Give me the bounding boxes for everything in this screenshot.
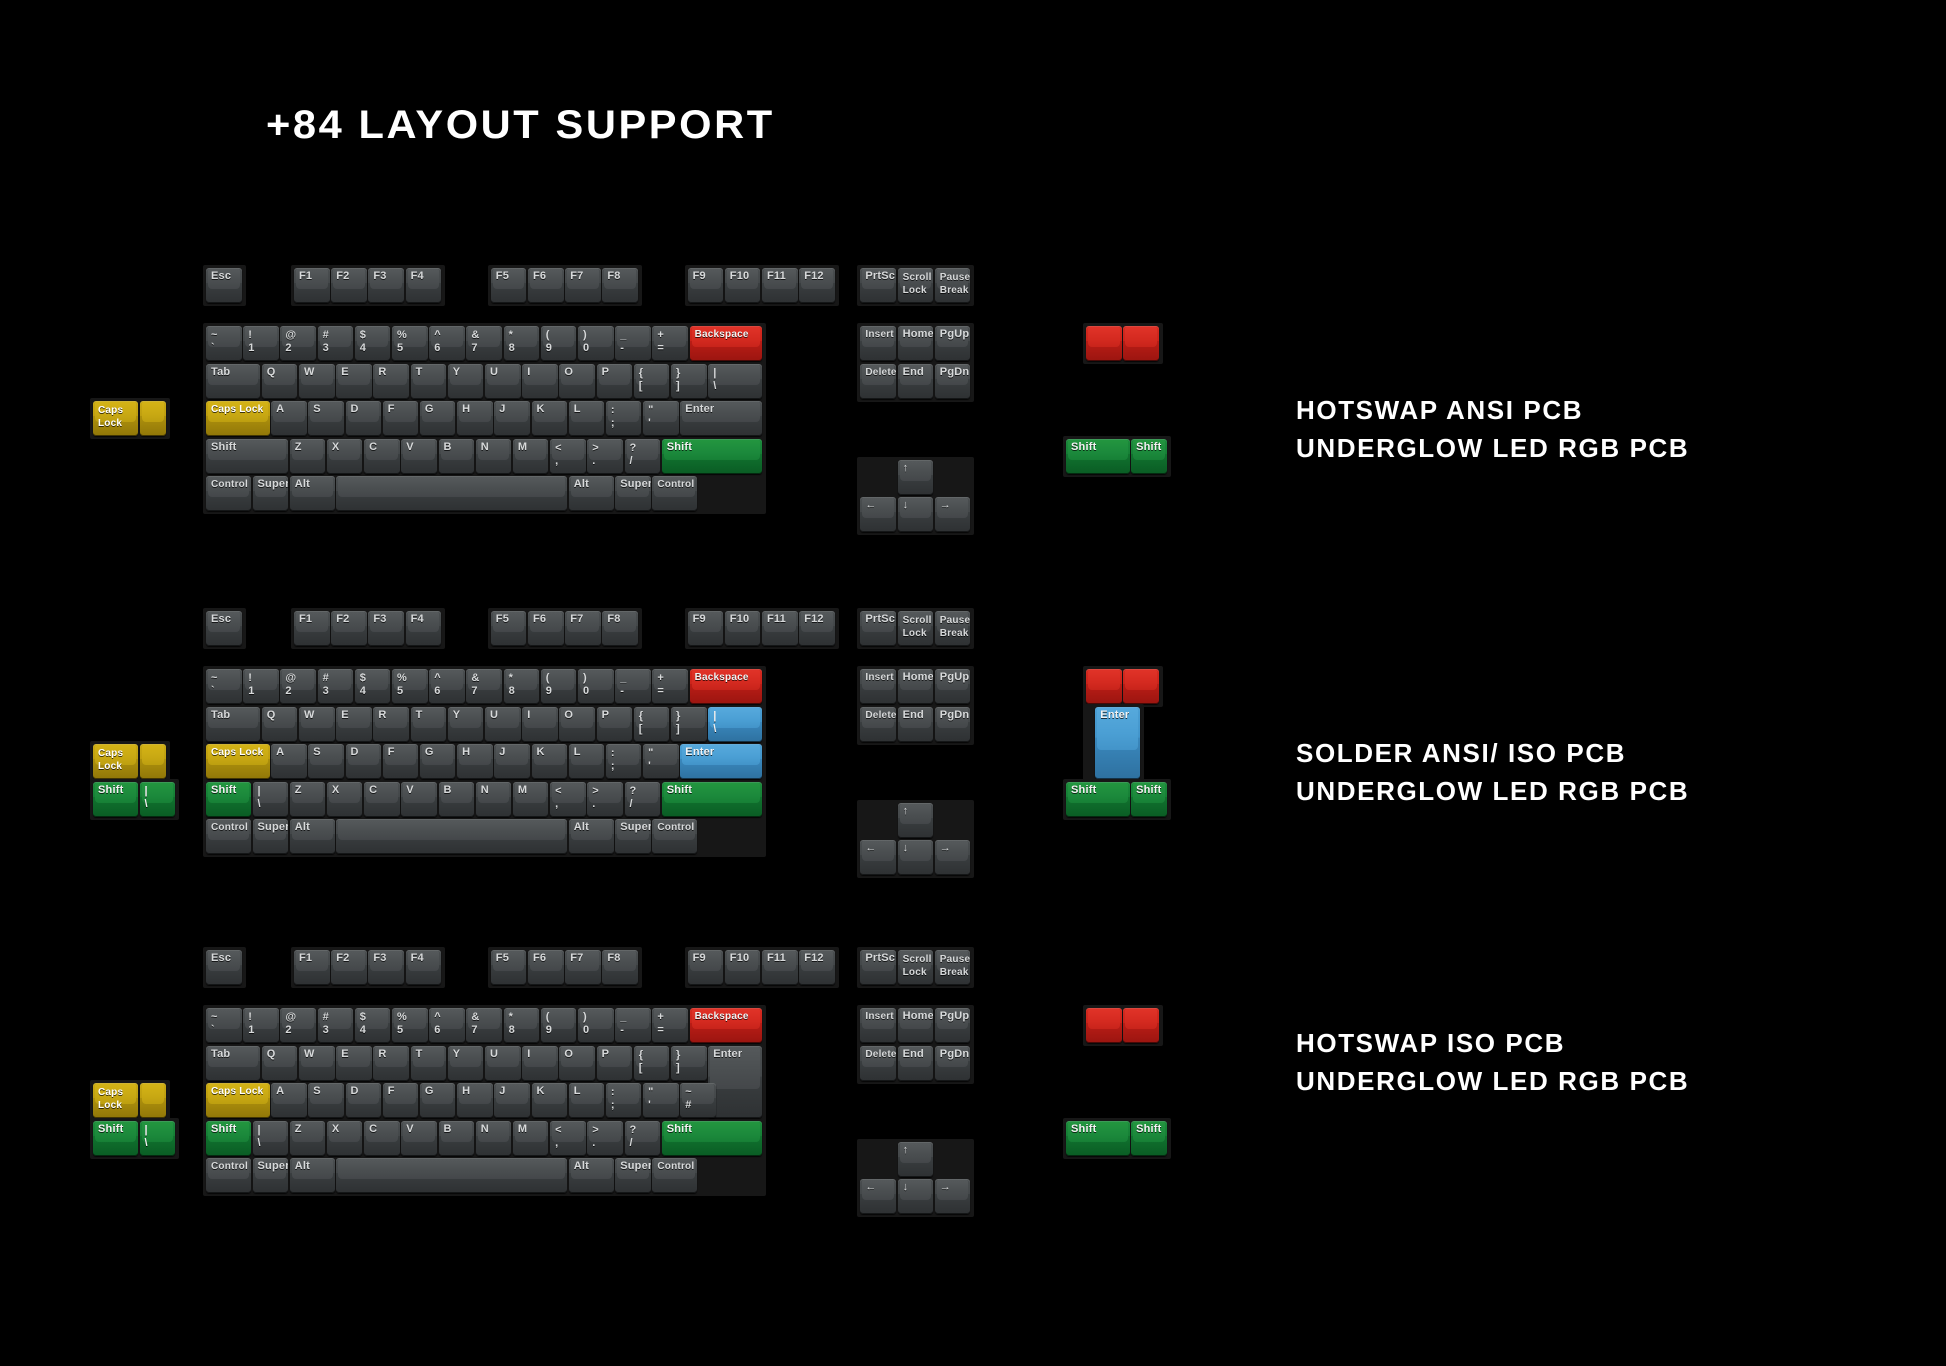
key-pgup[interactable]: PgUp bbox=[935, 326, 971, 361]
key-4[interactable]: $ 4 bbox=[355, 326, 391, 361]
cluster-f9-f12: F9F10F11F12 bbox=[685, 608, 839, 649]
key-l[interactable]: L bbox=[569, 401, 605, 436]
key-f4[interactable]: F4 bbox=[406, 268, 442, 303]
key-shift-right[interactable]: Shift bbox=[662, 439, 763, 474]
key-space[interactable] bbox=[336, 819, 567, 854]
key-6[interactable]: ^ 6 bbox=[429, 1008, 465, 1043]
key-super-right[interactable]: Super bbox=[615, 476, 651, 511]
key-super-left[interactable]: Super bbox=[253, 476, 289, 511]
key-4[interactable]: $ 4 bbox=[355, 1008, 391, 1043]
key-f5[interactable]: F5 bbox=[491, 268, 527, 303]
key-6[interactable]: ^ 6 bbox=[429, 326, 465, 361]
key-legend: PrtSc bbox=[865, 271, 895, 283]
key-j[interactable]: J bbox=[494, 744, 530, 779]
key-legend: Control bbox=[657, 1161, 694, 1172]
key-l[interactable]: L bbox=[569, 744, 605, 779]
key-alt-caps-blank[interactable] bbox=[140, 744, 166, 779]
key-arrow-down[interactable]: ↓ bbox=[898, 497, 934, 532]
key-d[interactable]: D bbox=[346, 1083, 382, 1118]
key-arrow-up[interactable]: ↑ bbox=[898, 803, 934, 838]
key-scroll-lock[interactable]: Scroll Lock bbox=[898, 611, 934, 646]
key-s[interactable]: S bbox=[308, 744, 344, 779]
key-p[interactable]: P bbox=[597, 1046, 633, 1081]
key-backspace[interactable]: Backspace bbox=[690, 669, 763, 704]
key-r[interactable]: R bbox=[373, 707, 409, 742]
key-f8[interactable]: F8 bbox=[602, 268, 638, 303]
key-arrow-right[interactable]: → bbox=[935, 840, 971, 875]
key-t[interactable]: T bbox=[411, 1046, 447, 1081]
key-end[interactable]: End bbox=[898, 364, 934, 399]
key-split-backspace-b[interactable] bbox=[1123, 669, 1159, 704]
key-f[interactable]: F bbox=[383, 401, 419, 436]
key-pause-break[interactable]: Pause Break bbox=[935, 611, 971, 646]
key-end[interactable]: End bbox=[898, 707, 934, 742]
key-comma[interactable]: < , bbox=[550, 782, 586, 817]
key-f8[interactable]: F8 bbox=[602, 950, 638, 985]
key-0[interactable]: ) 0 bbox=[578, 1008, 614, 1043]
key-w[interactable]: W bbox=[299, 1046, 335, 1081]
key-pgdn[interactable]: PgDn bbox=[935, 707, 971, 742]
key-k[interactable]: K bbox=[532, 1083, 568, 1118]
key-u[interactable]: U bbox=[485, 364, 521, 399]
key-alt-iso-backslash[interactable]: | \ bbox=[140, 782, 176, 817]
key-alt-caps-lock[interactable]: Caps Lock bbox=[93, 744, 138, 779]
key-shift-left[interactable]: Shift bbox=[206, 782, 251, 817]
key-alt-caps-lock[interactable]: Caps Lock bbox=[93, 401, 138, 436]
key-slash[interactable]: ? / bbox=[625, 1121, 661, 1156]
key-slash[interactable]: ? / bbox=[625, 439, 661, 474]
key-super-right[interactable]: Super bbox=[615, 819, 651, 854]
key-period[interactable]: > . bbox=[587, 782, 623, 817]
key-blank[interactable]: ~ ` bbox=[206, 326, 242, 361]
key-prtsc[interactable]: PrtSc bbox=[860, 611, 896, 646]
key-o[interactable]: O bbox=[559, 1046, 595, 1081]
key-pgup[interactable]: PgUp bbox=[935, 1008, 971, 1043]
key-n[interactable]: N bbox=[476, 439, 512, 474]
key-f11[interactable]: F11 bbox=[762, 950, 798, 985]
key-e[interactable]: E bbox=[336, 1046, 372, 1081]
key-esc[interactable]: Esc bbox=[206, 950, 242, 985]
key-1[interactable]: ! 1 bbox=[243, 326, 279, 361]
key-n[interactable]: N bbox=[476, 1121, 512, 1156]
key-x[interactable]: X bbox=[327, 439, 363, 474]
key-3[interactable]: # 3 bbox=[318, 326, 354, 361]
key-t[interactable]: T bbox=[411, 707, 447, 742]
key-period[interactable]: > . bbox=[587, 1121, 623, 1156]
key-bracket-left[interactable]: { [ bbox=[634, 1046, 670, 1081]
key-tab[interactable]: Tab bbox=[206, 364, 260, 399]
key-f9[interactable]: F9 bbox=[688, 268, 724, 303]
key-e[interactable]: E bbox=[336, 707, 372, 742]
key-home[interactable]: Home bbox=[898, 669, 934, 704]
key-legend: W bbox=[304, 710, 315, 722]
key-9[interactable]: ( 9 bbox=[541, 669, 577, 704]
key-scroll-lock[interactable]: Scroll Lock bbox=[898, 268, 934, 303]
key-semicolon[interactable]: : ; bbox=[606, 1083, 642, 1118]
key-j[interactable]: J bbox=[494, 1083, 530, 1118]
key-blank[interactable]: + = bbox=[652, 669, 688, 704]
key-f3[interactable]: F3 bbox=[368, 268, 404, 303]
key-f10[interactable]: F10 bbox=[725, 950, 761, 985]
key-h[interactable]: H bbox=[457, 744, 493, 779]
key-blank[interactable]: _ - bbox=[615, 669, 651, 704]
key-l[interactable]: L bbox=[569, 1083, 605, 1118]
key-s[interactable]: S bbox=[308, 1083, 344, 1118]
key-delete[interactable]: Delete bbox=[860, 1046, 896, 1081]
key-esc[interactable]: Esc bbox=[206, 611, 242, 646]
key-0[interactable]: ) 0 bbox=[578, 669, 614, 704]
key-delete[interactable]: Delete bbox=[860, 364, 896, 399]
key-m[interactable]: M bbox=[513, 439, 549, 474]
key-f2[interactable]: F2 bbox=[331, 950, 367, 985]
key-k[interactable]: K bbox=[532, 401, 568, 436]
key-esc[interactable]: Esc bbox=[206, 268, 242, 303]
key-control-left[interactable]: Control bbox=[206, 1158, 251, 1193]
key-f10[interactable]: F10 bbox=[725, 268, 761, 303]
key-v[interactable]: V bbox=[401, 782, 437, 817]
key-c[interactable]: C bbox=[364, 782, 400, 817]
key-end[interactable]: End bbox=[898, 1046, 934, 1081]
key-f3[interactable]: F3 bbox=[368, 950, 404, 985]
key-p[interactable]: P bbox=[597, 707, 633, 742]
key-alt-shift-right-b[interactable]: Shift bbox=[1131, 1121, 1167, 1156]
key-x[interactable]: X bbox=[327, 1121, 363, 1156]
key-b[interactable]: B bbox=[439, 782, 475, 817]
key-f7[interactable]: F7 bbox=[565, 268, 601, 303]
key-alt-shift-right-a[interactable]: Shift bbox=[1066, 1121, 1130, 1156]
key-home[interactable]: Home bbox=[898, 1008, 934, 1043]
key-alt-left[interactable]: Alt bbox=[290, 819, 335, 854]
key-iso-backslash[interactable]: | \ bbox=[253, 782, 289, 817]
key-f11[interactable]: F11 bbox=[762, 268, 798, 303]
key-f5[interactable]: F5 bbox=[491, 950, 527, 985]
key-legend: Alt bbox=[574, 822, 589, 834]
key-b[interactable]: B bbox=[439, 439, 475, 474]
key-semicolon[interactable]: : ; bbox=[606, 401, 642, 436]
key-arrow-up[interactable]: ↑ bbox=[898, 460, 934, 495]
key-arrow-right[interactable]: → bbox=[935, 497, 971, 532]
key-legend: G bbox=[425, 1086, 434, 1098]
key-comma[interactable]: < , bbox=[550, 1121, 586, 1156]
key-hash[interactable]: ~ # bbox=[680, 1083, 716, 1118]
key-c[interactable]: C bbox=[364, 1121, 400, 1156]
key-g[interactable]: G bbox=[420, 744, 456, 779]
key-w[interactable]: W bbox=[299, 364, 335, 399]
key-2[interactable]: @ 2 bbox=[280, 326, 316, 361]
key-k[interactable]: K bbox=[532, 744, 568, 779]
key-control-right[interactable]: Control bbox=[652, 476, 697, 511]
key-alt-left[interactable]: Alt bbox=[290, 1158, 335, 1193]
key-legend: F10 bbox=[730, 953, 750, 965]
key-a[interactable]: A bbox=[271, 1083, 307, 1118]
key-9[interactable]: ( 9 bbox=[541, 326, 577, 361]
key-legend: * 8 bbox=[509, 329, 515, 355]
key-c[interactable]: C bbox=[364, 439, 400, 474]
key-shift-left[interactable]: Shift bbox=[206, 1121, 251, 1156]
key-legend: V bbox=[406, 442, 414, 454]
key-6[interactable]: ^ 6 bbox=[429, 669, 465, 704]
key-blank[interactable]: _ - bbox=[615, 326, 651, 361]
key-v[interactable]: V bbox=[401, 1121, 437, 1156]
key-enter-iso[interactable]: Enter bbox=[708, 1046, 762, 1119]
key-alt-shift-left[interactable]: Shift bbox=[93, 782, 138, 817]
key-backspace[interactable]: Backspace bbox=[690, 1008, 763, 1043]
key-delete[interactable]: Delete bbox=[860, 707, 896, 742]
key-caps-lock[interactable]: Caps Lock bbox=[206, 744, 270, 779]
key-backslash[interactable]: | \ bbox=[708, 364, 762, 399]
key-pause-break[interactable]: Pause Break bbox=[935, 268, 971, 303]
key-b[interactable]: B bbox=[439, 1121, 475, 1156]
key-scroll-lock[interactable]: Scroll Lock bbox=[898, 950, 934, 985]
key-7[interactable]: & 7 bbox=[466, 326, 502, 361]
key-h[interactable]: H bbox=[457, 1083, 493, 1118]
key-split-backspace-b[interactable] bbox=[1123, 326, 1159, 361]
key-space[interactable] bbox=[336, 1158, 567, 1193]
key-shift-right[interactable]: Shift bbox=[662, 1121, 763, 1156]
key-f8[interactable]: F8 bbox=[602, 611, 638, 646]
key-j[interactable]: J bbox=[494, 401, 530, 436]
key-f12[interactable]: F12 bbox=[799, 950, 835, 985]
key-8[interactable]: * 8 bbox=[504, 1008, 540, 1043]
key-3[interactable]: # 3 bbox=[318, 669, 354, 704]
key-4[interactable]: $ 4 bbox=[355, 669, 391, 704]
key-arrow-left[interactable]: ← bbox=[860, 840, 896, 875]
key-alt-iso-backslash[interactable]: | \ bbox=[140, 1121, 176, 1156]
key-a[interactable]: A bbox=[271, 401, 307, 436]
key-i[interactable]: I bbox=[522, 364, 558, 399]
key-bracket-left[interactable]: { [ bbox=[634, 707, 670, 742]
key-insert[interactable]: Insert bbox=[860, 669, 896, 704]
key-n[interactable]: N bbox=[476, 782, 512, 817]
key-f5[interactable]: F5 bbox=[491, 611, 527, 646]
key-5[interactable]: % 5 bbox=[392, 326, 428, 361]
key-arrow-up[interactable]: ↑ bbox=[898, 1142, 934, 1177]
key-8[interactable]: * 8 bbox=[504, 326, 540, 361]
key-z[interactable]: Z bbox=[290, 782, 326, 817]
key-tab[interactable]: Tab bbox=[206, 1046, 260, 1081]
key-o[interactable]: O bbox=[559, 707, 595, 742]
key-legend: ( 9 bbox=[546, 672, 552, 698]
key-split-backspace-a[interactable] bbox=[1086, 1008, 1122, 1043]
key-0[interactable]: ) 0 bbox=[578, 326, 614, 361]
key-5[interactable]: % 5 bbox=[392, 1008, 428, 1043]
key-alt-shift-right-b[interactable]: Shift bbox=[1131, 439, 1167, 474]
key-backslash[interactable]: | \ bbox=[708, 707, 762, 742]
key-f9[interactable]: F9 bbox=[688, 950, 724, 985]
key-prtsc[interactable]: PrtSc bbox=[860, 268, 896, 303]
key-p[interactable]: P bbox=[597, 364, 633, 399]
key-shift-right[interactable]: Shift bbox=[662, 782, 763, 817]
key-caps-lock[interactable]: Caps Lock bbox=[206, 1083, 270, 1118]
key-q[interactable]: Q bbox=[262, 707, 298, 742]
key-q[interactable]: Q bbox=[262, 1046, 298, 1081]
key-5[interactable]: % 5 bbox=[392, 669, 428, 704]
key-9[interactable]: ( 9 bbox=[541, 1008, 577, 1043]
key-bracket-right[interactable]: } ] bbox=[671, 707, 707, 742]
key-split-backspace-a[interactable] bbox=[1086, 669, 1122, 704]
key-shift-left[interactable]: Shift bbox=[206, 439, 288, 474]
key-m[interactable]: M bbox=[513, 1121, 549, 1156]
key-control-left[interactable]: Control bbox=[206, 819, 251, 854]
key-bracket-right[interactable]: } ] bbox=[671, 1046, 707, 1081]
key-e[interactable]: E bbox=[336, 364, 372, 399]
key-h[interactable]: H bbox=[457, 401, 493, 436]
key-f4[interactable]: F4 bbox=[406, 950, 442, 985]
key-quote[interactable]: " ' bbox=[643, 401, 679, 436]
key-q[interactable]: Q bbox=[262, 364, 298, 399]
key-alt-caps-blank[interactable] bbox=[140, 1083, 166, 1118]
key-comma[interactable]: < , bbox=[550, 439, 586, 474]
key-blank[interactable]: + = bbox=[652, 1008, 688, 1043]
key-alt-caps-blank[interactable] bbox=[140, 401, 166, 436]
key-legend: Alt bbox=[574, 479, 589, 491]
key-alt-left[interactable]: Alt bbox=[290, 476, 335, 511]
key-d[interactable]: D bbox=[346, 401, 382, 436]
key-u[interactable]: U bbox=[485, 1046, 521, 1081]
key-alt-caps-lock[interactable]: Caps Lock bbox=[93, 1083, 138, 1118]
key-control-right[interactable]: Control bbox=[652, 1158, 697, 1193]
key-y[interactable]: Y bbox=[448, 707, 484, 742]
key-legend: % 5 bbox=[397, 672, 407, 698]
key-pause-break[interactable]: Pause Break bbox=[935, 950, 971, 985]
key-quote[interactable]: " ' bbox=[643, 744, 679, 779]
key-alt-shift-right-a[interactable]: Shift bbox=[1066, 782, 1130, 817]
key-space[interactable] bbox=[336, 476, 567, 511]
key-t[interactable]: T bbox=[411, 364, 447, 399]
key-split-backspace-a[interactable] bbox=[1086, 326, 1122, 361]
key-d[interactable]: D bbox=[346, 744, 382, 779]
key-arrow-right[interactable]: → bbox=[935, 1179, 971, 1214]
key-s[interactable]: S bbox=[308, 401, 344, 436]
key-f6[interactable]: F6 bbox=[528, 611, 564, 646]
key-f7[interactable]: F7 bbox=[565, 611, 601, 646]
key-caps-lock[interactable]: Caps Lock bbox=[206, 401, 270, 436]
key-blank[interactable]: _ - bbox=[615, 1008, 651, 1043]
key-blank[interactable]: ~ ` bbox=[206, 669, 242, 704]
key-legend: C bbox=[369, 442, 377, 454]
key-z[interactable]: Z bbox=[290, 439, 326, 474]
key-8[interactable]: * 8 bbox=[504, 669, 540, 704]
key-pgdn[interactable]: PgDn bbox=[935, 364, 971, 399]
key-7[interactable]: & 7 bbox=[466, 669, 502, 704]
key-f3[interactable]: F3 bbox=[368, 611, 404, 646]
key-slash[interactable]: ? / bbox=[625, 782, 661, 817]
key-u[interactable]: U bbox=[485, 707, 521, 742]
key-blank[interactable]: + = bbox=[652, 326, 688, 361]
key-r[interactable]: R bbox=[373, 1046, 409, 1081]
key-arrow-down[interactable]: ↓ bbox=[898, 840, 934, 875]
key-enter[interactable]: Enter bbox=[680, 744, 762, 779]
key-2[interactable]: @ 2 bbox=[280, 1008, 316, 1043]
key-y[interactable]: Y bbox=[448, 1046, 484, 1081]
key-3[interactable]: # 3 bbox=[318, 1008, 354, 1043]
key-alt-right[interactable]: Alt bbox=[569, 1158, 614, 1193]
key-arrow-left[interactable]: ← bbox=[860, 1179, 896, 1214]
key-split-backspace-b[interactable] bbox=[1123, 1008, 1159, 1043]
key-g[interactable]: G bbox=[420, 1083, 456, 1118]
key-f6[interactable]: F6 bbox=[528, 268, 564, 303]
key-super-left[interactable]: Super bbox=[253, 1158, 289, 1193]
key-legend: : ; bbox=[611, 1086, 615, 1112]
key-f1[interactable]: F1 bbox=[294, 611, 330, 646]
key-legend: < , bbox=[555, 442, 562, 468]
key-g[interactable]: G bbox=[420, 401, 456, 436]
key-semicolon[interactable]: : ; bbox=[606, 744, 642, 779]
key-alt-enter-iso[interactable]: Enter bbox=[1095, 707, 1140, 780]
key-f9[interactable]: F9 bbox=[688, 611, 724, 646]
key-control-left[interactable]: Control bbox=[206, 476, 251, 511]
key-alt-shift-right-b[interactable]: Shift bbox=[1131, 782, 1167, 817]
key-f11[interactable]: F11 bbox=[762, 611, 798, 646]
key-legend: Esc bbox=[211, 614, 231, 626]
key-a[interactable]: A bbox=[271, 744, 307, 779]
key-7[interactable]: & 7 bbox=[466, 1008, 502, 1043]
key-backspace[interactable]: Backspace bbox=[690, 326, 763, 361]
key-period[interactable]: > . bbox=[587, 439, 623, 474]
key-alt-shift-left[interactable]: Shift bbox=[93, 1121, 138, 1156]
key-f[interactable]: F bbox=[383, 1083, 419, 1118]
key-x[interactable]: X bbox=[327, 782, 363, 817]
key-insert[interactable]: Insert bbox=[860, 326, 896, 361]
key-super-left[interactable]: Super bbox=[253, 819, 289, 854]
key-pgdn[interactable]: PgDn bbox=[935, 1046, 971, 1081]
key-super-right[interactable]: Super bbox=[615, 1158, 651, 1193]
key-pgup[interactable]: PgUp bbox=[935, 669, 971, 704]
key-bracket-right[interactable]: } ] bbox=[671, 364, 707, 399]
key-f7[interactable]: F7 bbox=[565, 950, 601, 985]
key-home[interactable]: Home bbox=[898, 326, 934, 361]
key-m[interactable]: M bbox=[513, 782, 549, 817]
key-alt-right[interactable]: Alt bbox=[569, 476, 614, 511]
key-f12[interactable]: F12 bbox=[799, 268, 835, 303]
key-y[interactable]: Y bbox=[448, 364, 484, 399]
key-f2[interactable]: F2 bbox=[331, 268, 367, 303]
key-prtsc[interactable]: PrtSc bbox=[860, 950, 896, 985]
key-w[interactable]: W bbox=[299, 707, 335, 742]
key-f6[interactable]: F6 bbox=[528, 950, 564, 985]
key-alt-shift-right-a[interactable]: Shift bbox=[1066, 439, 1130, 474]
key-1[interactable]: ! 1 bbox=[243, 669, 279, 704]
key-f[interactable]: F bbox=[383, 744, 419, 779]
key-tab[interactable]: Tab bbox=[206, 707, 260, 742]
key-enter[interactable]: Enter bbox=[680, 401, 762, 436]
key-arrow-left[interactable]: ← bbox=[860, 497, 896, 532]
key-i[interactable]: I bbox=[522, 707, 558, 742]
key-quote[interactable]: " ' bbox=[643, 1083, 679, 1118]
key-bracket-left[interactable]: { [ bbox=[634, 364, 670, 399]
key-iso-backslash[interactable]: | \ bbox=[253, 1121, 289, 1156]
key-1[interactable]: ! 1 bbox=[243, 1008, 279, 1043]
key-f1[interactable]: F1 bbox=[294, 950, 330, 985]
key-z[interactable]: Z bbox=[290, 1121, 326, 1156]
key-o[interactable]: O bbox=[559, 364, 595, 399]
key-blank[interactable]: ~ ` bbox=[206, 1008, 242, 1043]
key-i[interactable]: I bbox=[522, 1046, 558, 1081]
key-alt-right[interactable]: Alt bbox=[569, 819, 614, 854]
key-f4[interactable]: F4 bbox=[406, 611, 442, 646]
key-v[interactable]: V bbox=[401, 439, 437, 474]
key-2[interactable]: @ 2 bbox=[280, 669, 316, 704]
key-f1[interactable]: F1 bbox=[294, 268, 330, 303]
key-insert[interactable]: Insert bbox=[860, 1008, 896, 1043]
key-legend: ~ ` bbox=[211, 672, 218, 698]
key-f2[interactable]: F2 bbox=[331, 611, 367, 646]
key-arrow-down[interactable]: ↓ bbox=[898, 1179, 934, 1214]
key-f10[interactable]: F10 bbox=[725, 611, 761, 646]
key-r[interactable]: R bbox=[373, 364, 409, 399]
key-f12[interactable]: F12 bbox=[799, 611, 835, 646]
key-control-right[interactable]: Control bbox=[652, 819, 697, 854]
